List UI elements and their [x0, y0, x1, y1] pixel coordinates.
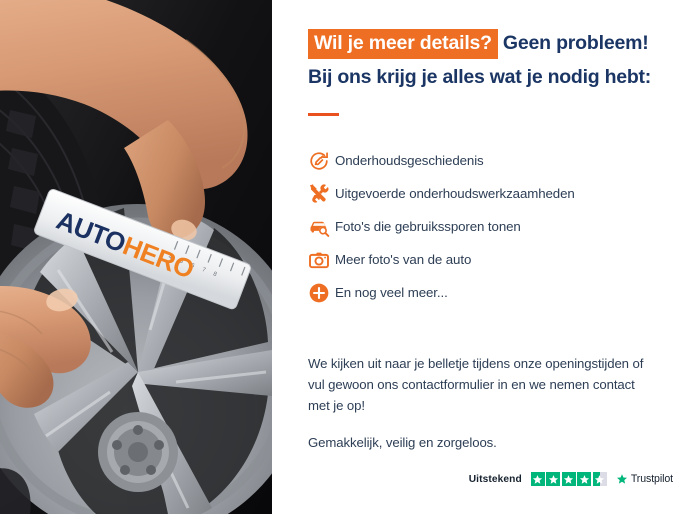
- tyre-inspection-photo: 4 5 6 7 8 AUTOHERO: [0, 0, 272, 514]
- list-item: Foto's die gebruikssporen tonen: [308, 212, 651, 242]
- headline-rest: Geen probleem!: [503, 32, 649, 54]
- camera-icon: [308, 247, 335, 273]
- list-item-label: Meer foto's van de auto: [335, 252, 471, 267]
- orange-divider: [308, 113, 339, 116]
- trustpilot-rating-word: Uitstekend: [469, 474, 522, 485]
- star-icon: [577, 472, 591, 486]
- list-item: En nog veel meer...: [308, 278, 651, 308]
- tyre-inspection-illustration: 4 5 6 7 8 AUTOHERO: [0, 0, 272, 514]
- reassurance-paragraph: Gemakkelijk, veilig en zorgeloos.: [308, 433, 651, 454]
- list-item: Meer foto's van de auto: [308, 245, 651, 275]
- trustpilot-brand[interactable]: Trustpilot: [616, 473, 673, 485]
- feature-list: Onderhoudsgeschiedenis Uitgevoerde onder…: [308, 146, 651, 308]
- star-icon: [531, 472, 545, 486]
- list-item-label: En nog veel meer...: [335, 285, 448, 300]
- maintenance-history-icon: [308, 148, 335, 174]
- headline-first-line: Wil je meer details?Geen probleem!: [308, 29, 651, 59]
- page-title: Wil je meer details?Geen probleem! Bij o…: [308, 29, 651, 90]
- car-inspection-magnifier-icon: [308, 214, 335, 240]
- star-icon: [562, 472, 576, 486]
- tools-wrench-screwdriver-icon: [308, 181, 335, 207]
- list-item: Onderhoudsgeschiedenis: [308, 146, 651, 176]
- trustpilot-brand-name: Trustpilot: [631, 473, 673, 485]
- list-item-label: Uitgevoerde onderhoudswerkzaamheden: [335, 186, 575, 201]
- list-item-label: Foto's die gebruikssporen tonen: [335, 219, 521, 234]
- headline-subline: Bij ons krijg je alles wat je nodig hebt…: [308, 65, 651, 90]
- headline-highlight: Wil je meer details?: [308, 29, 498, 59]
- star-half-icon: [593, 472, 607, 486]
- contact-paragraph: We kijken uit naar je belletje tijdens o…: [308, 354, 651, 417]
- plus-circle-icon: [308, 280, 335, 306]
- autohero-details-banner: 4 5 6 7 8 AUTOHERO: [0, 0, 685, 514]
- details-content-pane: Wil je meer details?Geen probleem! Bij o…: [272, 0, 685, 514]
- trustpilot-star-logo-icon: [616, 473, 628, 485]
- trustpilot-rating-widget[interactable]: Uitstekend: [469, 472, 673, 486]
- list-item-label: Onderhoudsgeschiedenis: [335, 153, 484, 168]
- trustpilot-stars: [531, 472, 607, 486]
- list-item: Uitgevoerde onderhoudswerkzaamheden: [308, 179, 651, 209]
- star-icon: [546, 472, 560, 486]
- body-copy: We kijken uit naar je belletje tijdens o…: [308, 354, 651, 454]
